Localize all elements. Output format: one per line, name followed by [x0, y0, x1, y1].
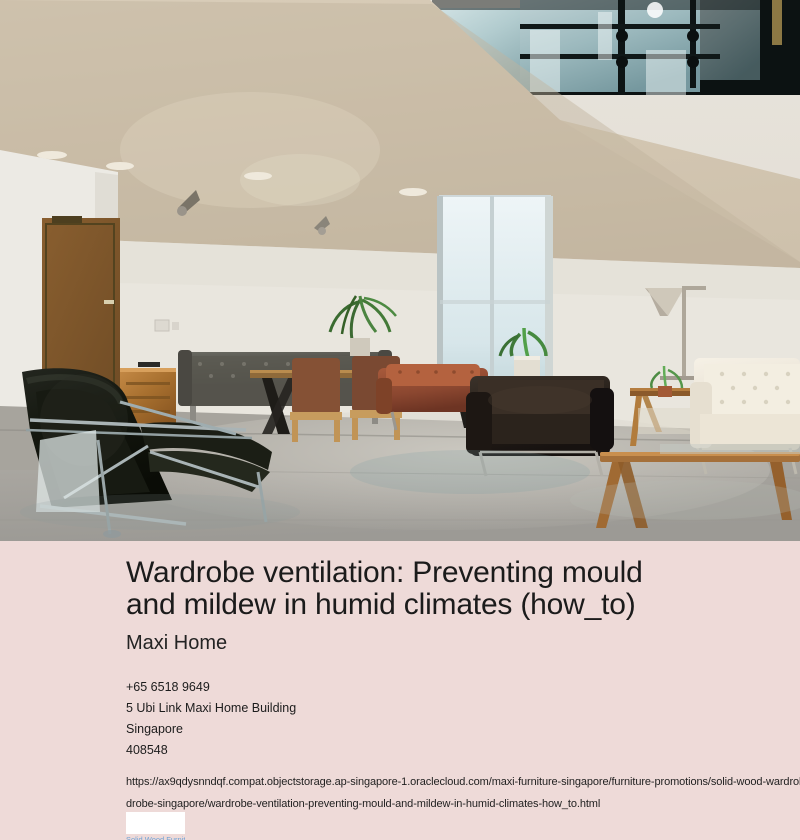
- page-root: Wardrobe ventilation: Preventing mould a…: [0, 0, 800, 840]
- article-content: Wardrobe ventilation: Preventing mould a…: [0, 541, 800, 815]
- related-thumbnail[interactable]: [126, 812, 185, 834]
- related-card-caption[interactable]: Solid Wood Furniture Singapore: [126, 835, 185, 840]
- source-url-line-1[interactable]: https://ax9qdysnndqf.compat.objectstorag…: [126, 771, 800, 793]
- contact-details: +65 6518 9649 5 Ubi Link Maxi Home Build…: [0, 655, 800, 761]
- source-url[interactable]: https://ax9qdysnndqf.compat.objectstorag…: [0, 761, 800, 815]
- related-card-strip: Solid Wood Furniture Singapore: [126, 812, 766, 840]
- contact-phone: +65 6518 9649: [126, 677, 800, 698]
- contact-postal-code: 408548: [126, 740, 800, 761]
- contact-country: Singapore: [126, 719, 800, 740]
- showroom-interior-photo: [0, 0, 800, 541]
- contact-address: 5 Ubi Link Maxi Home Building: [126, 698, 800, 719]
- brand-name: Maxi Home: [0, 621, 800, 655]
- hero-image-container: [0, 0, 800, 541]
- page-title: Wardrobe ventilation: Preventing mould a…: [0, 541, 800, 621]
